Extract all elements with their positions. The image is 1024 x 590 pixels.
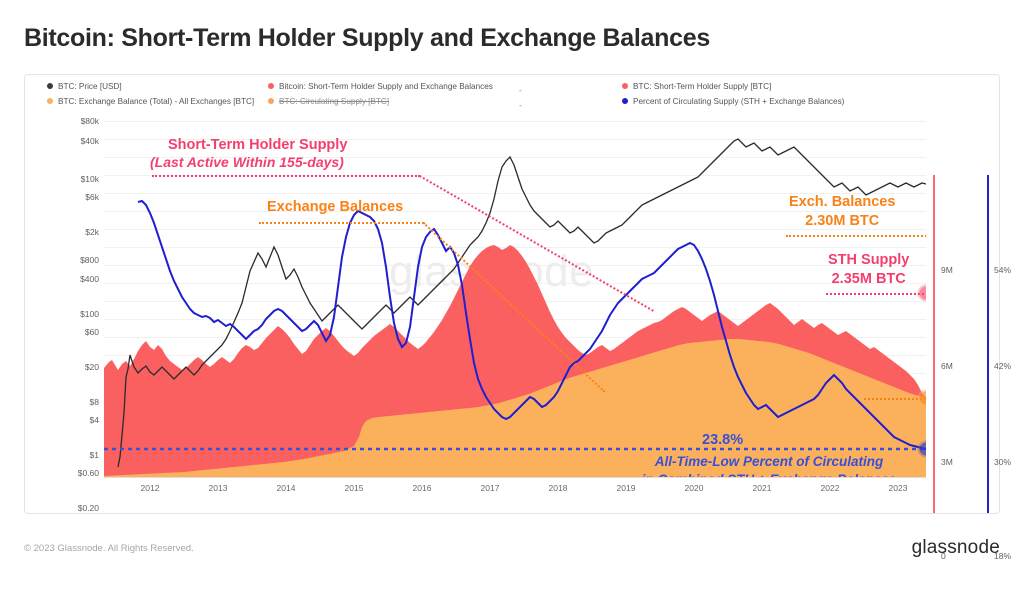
- legend-item-sth-and-exchange[interactable]: Bitcoin: Short-Term Holder Supply and Ex…: [268, 79, 493, 93]
- y-tick-label: $100: [80, 309, 99, 319]
- y-tick-label: $10k: [81, 174, 99, 184]
- legend-dot-icon: [622, 83, 628, 89]
- x-tick-label: 2014: [277, 483, 296, 493]
- legend-column-3: BTC: Short-Term Holder Supply [BTC] Perc…: [622, 79, 844, 109]
- legend-dot-icon: [268, 83, 274, 89]
- legend-column-2: Bitcoin: Short-Term Holder Supply and Ex…: [268, 79, 493, 109]
- y-tick-label: $400: [80, 274, 99, 284]
- right-axis-red-line: [933, 175, 935, 513]
- endpoint-marker-exchange-balance: [920, 392, 927, 405]
- annotation-sth-callout-line1: STH Supply: [828, 251, 909, 270]
- x-tick-label: 2021: [753, 483, 772, 493]
- legend-item-sth-supply[interactable]: BTC: Short-Term Holder Supply [BTC]: [622, 79, 844, 93]
- chart-legend: BTC: Price [USD] BTC: Exchange Balance (…: [25, 79, 1001, 113]
- x-axis-line: [104, 477, 926, 478]
- x-tick-label: 2019: [617, 483, 636, 493]
- y-tick-label: $0.60: [78, 468, 99, 478]
- legend-label: BTC: Exchange Balance (Total) - All Exch…: [58, 97, 254, 106]
- right-axis-blue-line: [987, 175, 989, 513]
- y-tick-label: $0.20: [78, 503, 99, 513]
- y-tick-label: $2k: [85, 227, 99, 237]
- x-tick-label: 2018: [549, 483, 568, 493]
- legend-item-btc-price[interactable]: BTC: Price [USD]: [47, 79, 254, 93]
- y-tick-label: $8: [90, 397, 99, 407]
- y-tick-label: $800: [80, 255, 99, 265]
- legend-dot-icon: [47, 83, 53, 89]
- right-blue-tick-label: 30%: [994, 457, 1011, 467]
- x-tick-label: 2016: [413, 483, 432, 493]
- right-red-tick-label: 3M: [941, 457, 953, 467]
- annotation-sth-leader-horizontal: [152, 175, 420, 177]
- annotation-sth-supply-line1: Short-Term Holder Supply: [168, 137, 347, 154]
- legend-dot-icon: [47, 98, 53, 104]
- legend-label: BTC: Price [USD]: [58, 82, 122, 91]
- glassnode-logo: glassnode: [912, 537, 1000, 559]
- y-tick-label: $40k: [81, 136, 99, 146]
- legend-label: BTC: Short-Term Holder Supply [BTC]: [633, 82, 771, 91]
- legend-dash-mark: -: [519, 101, 522, 110]
- y-tick-label: $6k: [85, 192, 99, 202]
- legend-item-circulating-supply-disabled[interactable]: BTC: Circulating Supply [BTC]: [268, 94, 493, 108]
- x-tick-label: 2022: [821, 483, 840, 493]
- x-tick-label: 2020: [685, 483, 704, 493]
- plot-background: glassnode Short-Te: [104, 117, 926, 477]
- y-tick-label: $20: [85, 362, 99, 372]
- x-tick-label: 2012: [141, 483, 160, 493]
- y-tick-label: $80k: [81, 116, 99, 126]
- annotation-percent-value: 23.8%: [702, 432, 743, 448]
- x-tick-label: 2015: [345, 483, 364, 493]
- plot-area: glassnode Short-Te: [104, 117, 926, 477]
- y-tick-label: $1: [90, 450, 99, 460]
- legend-dot-icon: [268, 98, 274, 104]
- annotation-sth-supply-line2: (Last Active Within 155-days): [150, 154, 347, 171]
- chart-page: Bitcoin: Short-Term Holder Supply and Ex…: [0, 0, 1024, 590]
- y-tick-label: $4: [90, 415, 99, 425]
- chart-svg: [104, 117, 926, 477]
- legend-column-1: BTC: Price [USD] BTC: Exchange Balance (…: [47, 79, 254, 109]
- endpoint-marker-percent: [920, 443, 927, 456]
- x-tick-label: 2023: [889, 483, 908, 493]
- annotation-exch-callout-line1: Exch. Balances: [789, 193, 895, 212]
- page-title: Bitcoin: Short-Term Holder Supply and Ex…: [24, 24, 710, 53]
- x-tick-label: 2013: [209, 483, 228, 493]
- right-red-tick-label: 9M: [941, 265, 953, 275]
- annotation-sth-callout-line2: 2.35M BTC: [828, 270, 909, 289]
- legend-label: Percent of Circulating Supply (STH + Exc…: [633, 97, 844, 106]
- legend-dot-icon: [622, 98, 628, 104]
- right-blue-tick-label: 42%: [994, 361, 1011, 371]
- annotation-exchange-balances: Exchange Balances: [267, 199, 403, 215]
- annotation-sth-callout-line-top: [826, 293, 926, 295]
- annotation-exch-callout-line-top: [786, 235, 926, 237]
- legend-label: BTC: Circulating Supply [BTC]: [279, 97, 389, 106]
- right-red-tick-label: 6M: [941, 361, 953, 371]
- copyright-text: © 2023 Glassnode. All Rights Reserved.: [24, 543, 194, 554]
- annotation-percent-line1: All-Time-Low Percent of Circulating: [609, 453, 926, 471]
- legend-item-percent-circulating[interactable]: Percent of Circulating Supply (STH + Exc…: [622, 94, 844, 108]
- y-tick-label: $60: [85, 327, 99, 337]
- annotation-exchange-leader-horizontal: [259, 222, 424, 224]
- x-tick-label: 2017: [481, 483, 500, 493]
- endpoint-marker-sth-supply: [920, 287, 927, 300]
- legend-item-exchange-balance[interactable]: BTC: Exchange Balance (Total) - All Exch…: [47, 94, 254, 108]
- legend-label: Bitcoin: Short-Term Holder Supply and Ex…: [279, 82, 493, 91]
- chart-card: BTC: Price [USD] BTC: Exchange Balance (…: [24, 74, 1000, 514]
- legend-dash-mark: -: [519, 86, 522, 95]
- right-blue-tick-label: 54%: [994, 265, 1011, 275]
- left-axis-labels: $80k $40k $10k $6k $2k $800 $400 $100 $6…: [25, 117, 99, 477]
- annotation-exch-callout-line2: 2.30M BTC: [789, 212, 895, 231]
